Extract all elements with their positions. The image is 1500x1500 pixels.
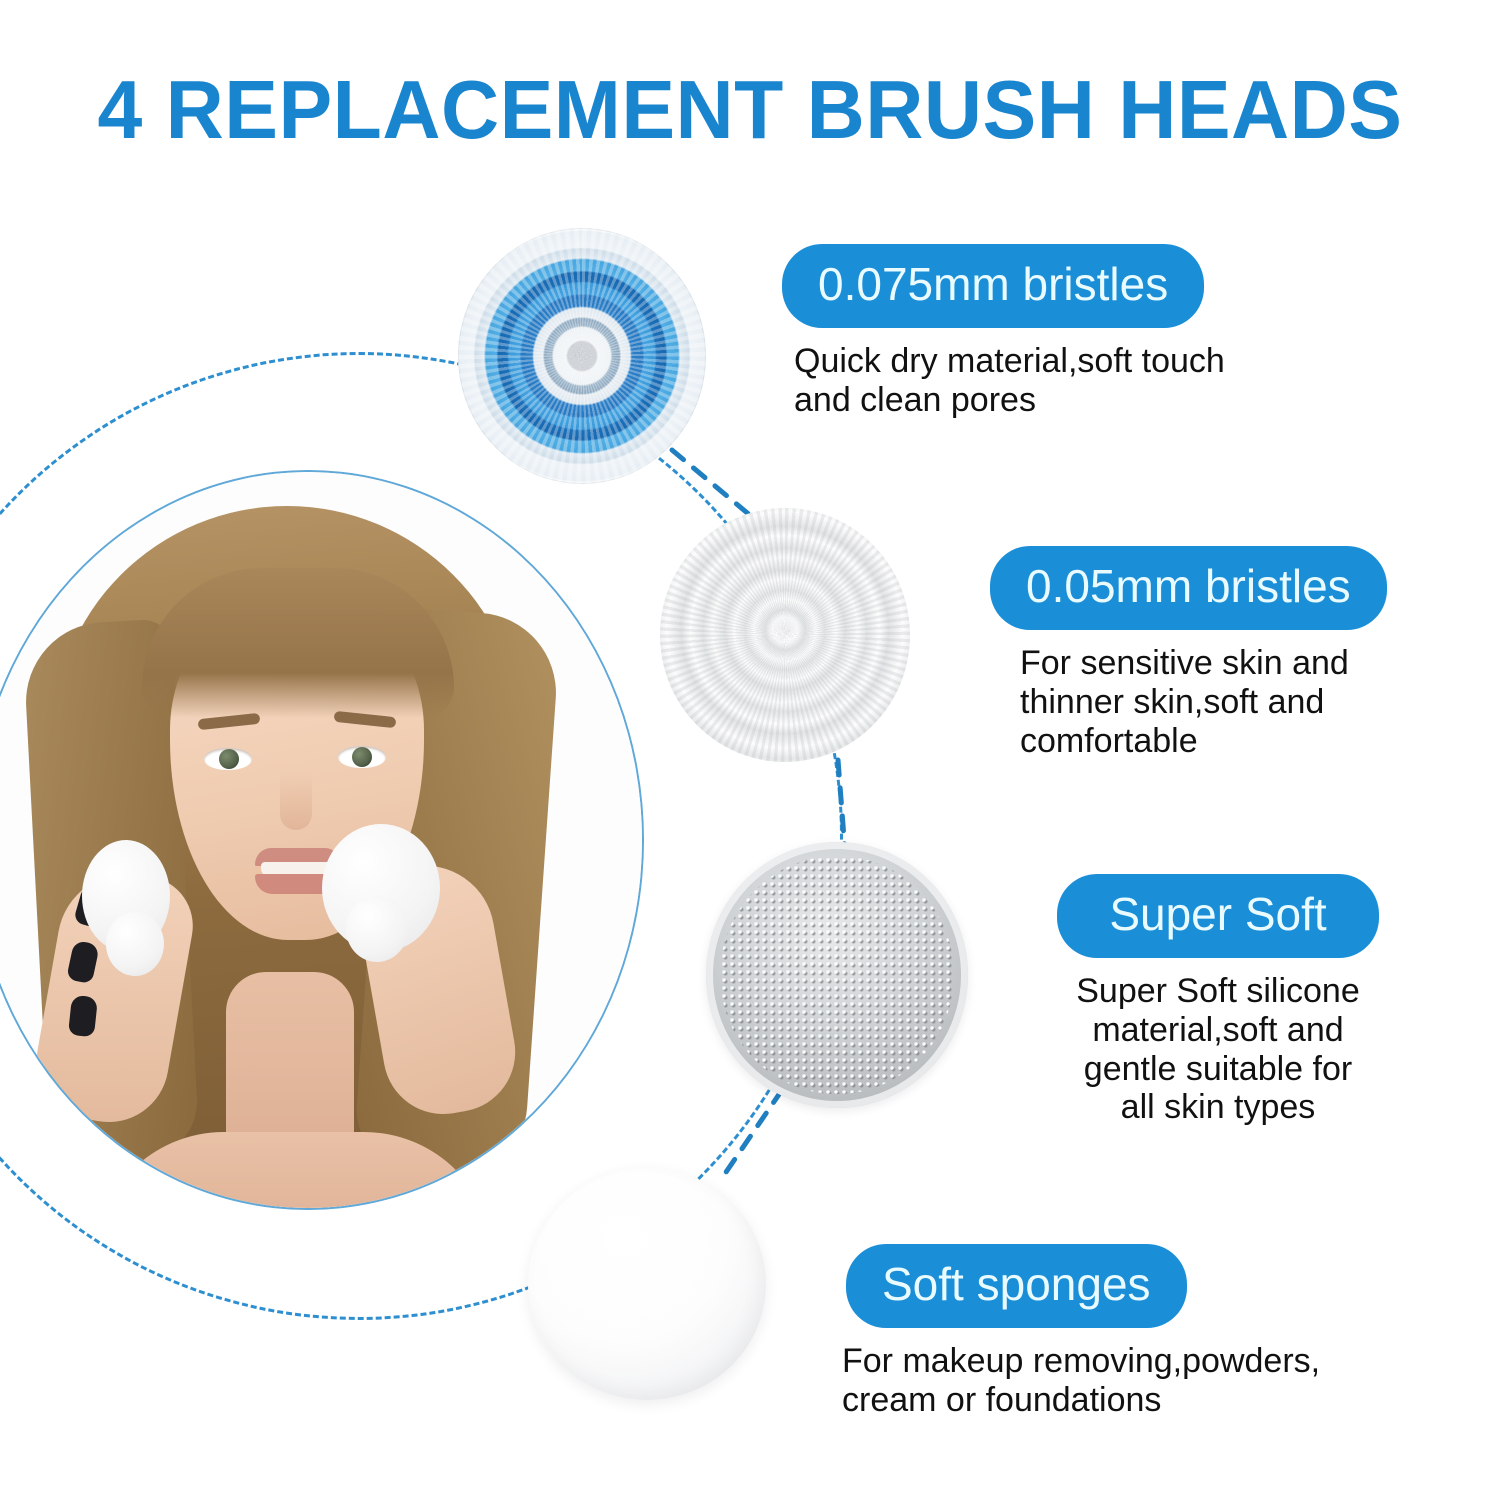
feature-callout-super-soft: Super Soft Super Soft silicone material,… — [1022, 874, 1414, 1127]
infographic-page: 4 REPLACEMENT BRUSH HEADS — [0, 0, 1500, 1500]
brush-head-blue-bristles — [458, 228, 706, 484]
model-photo — [0, 472, 642, 1208]
brush-head-white-bristles — [660, 508, 910, 762]
feature-description: For sensitive skin and thinner skin,soft… — [1020, 644, 1387, 760]
model-photo-circle — [0, 470, 644, 1210]
feature-callout-bristles-005: 0.05mm bristles For sensitive skin and t… — [990, 546, 1387, 760]
feature-label-badge: Super Soft — [1057, 874, 1378, 958]
feature-description: For makeup removing,powders, cream or fo… — [842, 1342, 1320, 1420]
feature-callout-bristles-0075: 0.075mm bristles Quick dry material,soft… — [782, 244, 1225, 420]
feature-label-badge: 0.05mm bristles — [990, 546, 1387, 630]
feature-description: Super Soft silicone material,soft and ge… — [1022, 972, 1414, 1127]
feature-callout-soft-sponges: Soft sponges For makeup removing,powders… — [846, 1244, 1320, 1420]
brush-head-white-sponge — [528, 1168, 766, 1400]
feature-description: Quick dry material,soft touch and clean … — [794, 342, 1225, 420]
feature-label-badge: Soft sponges — [846, 1244, 1187, 1328]
brush-head-grey-silicone — [706, 842, 968, 1108]
page-title: 4 REPLACEMENT BRUSH HEADS — [23, 62, 1478, 158]
feature-label-badge: 0.075mm bristles — [782, 244, 1204, 328]
